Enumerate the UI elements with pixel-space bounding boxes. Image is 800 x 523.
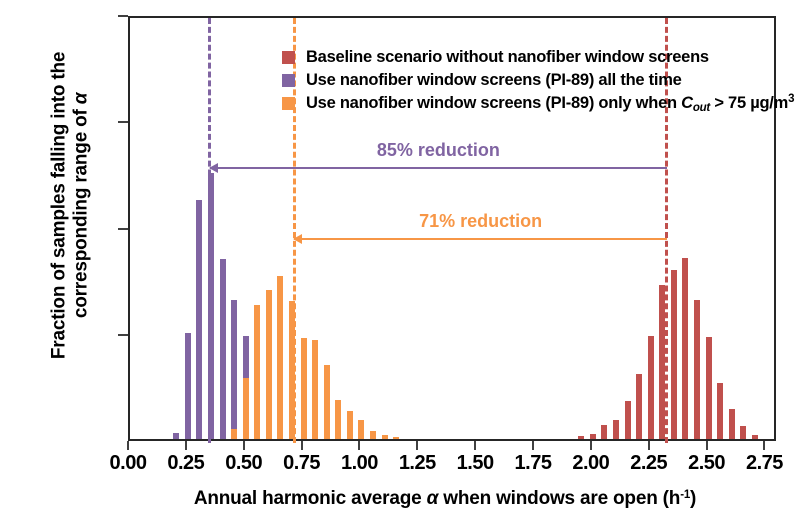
histogram-bar: [370, 431, 376, 440]
histogram-bar: [706, 337, 712, 439]
histogram-bar: [752, 435, 758, 439]
y-tick-mark: [118, 334, 128, 336]
x-tick-mark: [243, 441, 245, 450]
x-tick-mark: [648, 441, 650, 450]
legend-swatch-icon: [282, 74, 295, 87]
x-tick-mark: [301, 441, 303, 450]
y-tick-mark: [118, 15, 128, 17]
legend-item-3: Use nanofiber window screens (PI-89) onl…: [282, 92, 794, 115]
reduction-85-arrow-line: [210, 167, 667, 169]
legend-swatch-icon: [282, 51, 295, 64]
legend-item-label: Baseline scenario without nanofiber wind…: [306, 48, 709, 67]
histogram-bar: [613, 420, 619, 439]
histogram-bar: [382, 435, 388, 439]
all-the-time-mean-dashed-line: [208, 18, 211, 443]
histogram-bar: [636, 374, 642, 439]
histogram-bar: [625, 401, 631, 439]
legend-item-label: Use nanofiber window screens (PI-89) all…: [306, 71, 682, 90]
legend-item-2: Use nanofiber window screens (PI-89) all…: [282, 69, 794, 92]
x-tick-mark: [590, 441, 592, 450]
histogram-bar: [196, 200, 202, 439]
histogram-bar: [393, 437, 399, 439]
reduction-85-label: 85% reduction: [377, 140, 500, 161]
histogram-bar: [358, 420, 364, 439]
reduction-71-arrow-line: [294, 238, 667, 240]
x-tick-mark: [532, 441, 534, 450]
y-tick-mark: [118, 228, 128, 230]
x-tick-mark: [416, 441, 418, 450]
histogram-bar: [717, 383, 723, 439]
reduction-71-arrow-head: [293, 234, 302, 244]
histogram-bar: [185, 333, 191, 439]
histogram-bar: [173, 433, 179, 439]
histogram-bar: [590, 434, 596, 439]
legend: Baseline scenario without nanofiber wind…: [282, 46, 794, 115]
legend-swatch-icon: [282, 97, 295, 110]
reduction-71-label: 71% reduction: [419, 211, 542, 232]
y-tick-mark: [118, 121, 128, 123]
histogram-bar: [671, 270, 677, 439]
histogram-bar: [243, 378, 249, 439]
histogram-bar: [254, 305, 260, 439]
histogram-bar: [347, 411, 353, 439]
legend-item-label: Use nanofiber window screens (PI-89) onl…: [306, 93, 794, 114]
x-tick-mark: [185, 441, 187, 450]
x-tick-mark: [358, 441, 360, 450]
histogram-bar: [324, 365, 330, 439]
x-axis-title: Annual harmonic average α when windows a…: [100, 488, 790, 510]
histogram-bar: [648, 336, 654, 439]
y-axis-title: Fraction of samples falling into thecorr…: [49, 0, 94, 420]
x-tick-mark: [127, 441, 129, 450]
histogram-bar: [694, 300, 700, 439]
plot-area: 85% reduction71% reduction Baseline scen…: [128, 16, 776, 441]
legend-item-1: Baseline scenario without nanofiber wind…: [282, 46, 794, 69]
x-tick-label: 2.75: [719, 452, 800, 475]
histogram-bar: [231, 429, 237, 439]
x-tick-mark: [474, 441, 476, 450]
histogram-bar: [231, 300, 237, 439]
reduction-85-arrow-head: [209, 163, 218, 173]
x-tick-mark: [706, 441, 708, 450]
histogram-bar: [277, 276, 283, 439]
histogram-bar: [312, 340, 318, 439]
histogram-bar: [578, 436, 584, 439]
x-tick-mark: [763, 441, 765, 450]
histogram-bar: [220, 259, 226, 439]
histogram-bar: [729, 409, 735, 439]
histogram-bar: [659, 285, 665, 439]
histogram-bar: [740, 426, 746, 439]
histogram-bar: [301, 338, 307, 439]
histogram-bar: [266, 290, 272, 439]
histogram-bar: [601, 425, 607, 439]
histogram-bar: [335, 400, 341, 439]
histogram-figure: Fraction of samples falling into thecorr…: [0, 0, 800, 523]
histogram-bar: [682, 258, 688, 439]
